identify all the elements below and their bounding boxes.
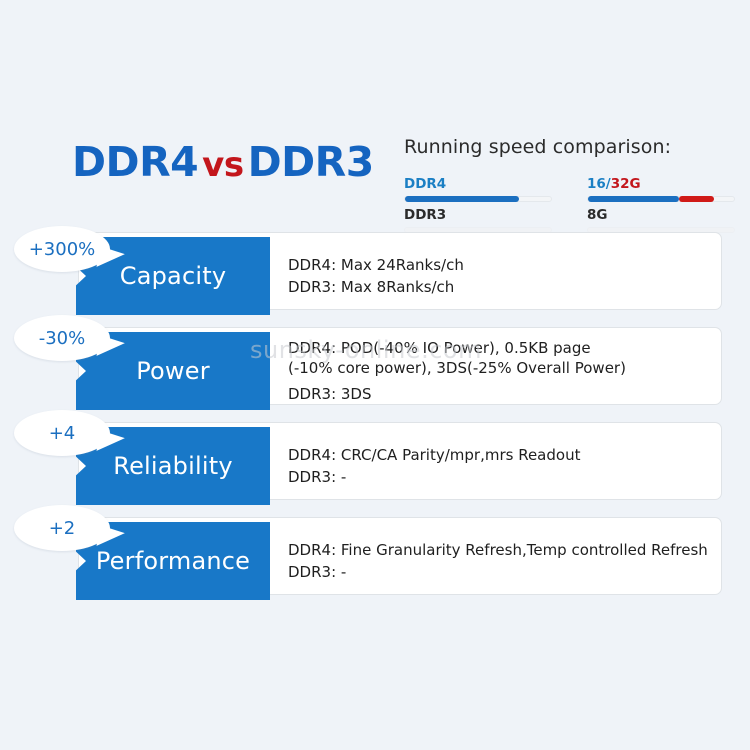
row-line-ddr3: DDR3: Max 8Ranks/ch	[288, 276, 718, 298]
speed-fill-16g	[588, 196, 679, 202]
row-content-performance: DDR4: Fine Granularity Refresh,Temp cont…	[288, 522, 718, 600]
badge-capacity: +300%	[14, 226, 110, 272]
badge-reliability: +4	[14, 410, 110, 456]
speed-bar-label-ddr3: DDR3	[404, 207, 552, 223]
speed-comparison-heading: Running speed comparison:	[404, 136, 722, 158]
row-line-ddr3: DDR3: -	[288, 466, 718, 488]
badge-label: +300%	[29, 239, 96, 260]
speed-label-32g: 32G	[611, 176, 641, 192]
row-category-label: Reliability	[113, 452, 232, 480]
row-line-ddr4: DDR4: Fine Granularity Refresh,Temp cont…	[288, 539, 718, 561]
row-line-ddr3: DDR3: 3DS	[288, 384, 718, 404]
row-category-label: Capacity	[120, 262, 226, 290]
speed-track-16-32g	[587, 196, 735, 202]
speed-fill-ddr4	[405, 196, 519, 202]
speed-track-ddr4	[404, 196, 552, 202]
speed-bar-label-8g: 8G	[587, 207, 735, 223]
page-title: DDR4vsDDR3	[72, 138, 374, 186]
badge-tail-icon	[97, 430, 126, 455]
speed-group-generation: DDR4 DDR3	[404, 176, 552, 238]
row-line-ddr4: DDR4: CRC/CA Parity/mpr,mrs Readout	[288, 444, 718, 466]
row-line-ddr4-b: (-10% core power), 3DS(-25% Overall Powe…	[288, 358, 718, 378]
badge-label: +2	[49, 518, 76, 539]
table-row: Capacity DDR4: Max 24Ranks/ch DDR3: Max …	[0, 232, 750, 322]
badge-tail-icon	[97, 525, 126, 550]
title-ddr3: DDR3	[248, 138, 374, 186]
title-ddr4: DDR4	[72, 138, 198, 186]
row-category-label: Performance	[96, 547, 250, 575]
badge-label: -30%	[39, 328, 86, 349]
speed-label-16: 16/	[587, 176, 611, 192]
title-vs: vs	[198, 145, 247, 185]
row-content-capacity: DDR4: Max 24Ranks/ch DDR3: Max 8Ranks/ch	[288, 237, 718, 315]
speed-fill-32g	[679, 196, 714, 202]
row-line-ddr4: DDR4: Max 24Ranks/ch	[288, 254, 718, 276]
speed-comparison-section: Running speed comparison:	[404, 136, 722, 158]
row-content-power: DDR4: POD(-40% IO Power), 0.5KB page (-1…	[288, 332, 718, 410]
row-content-reliability: DDR4: CRC/CA Parity/mpr,mrs Readout DDR3…	[288, 427, 718, 505]
row-line-ddr3: DDR3: -	[288, 561, 718, 583]
row-line-ddr4-a: DDR4: POD(-40% IO Power), 0.5KB page	[288, 338, 718, 358]
badge-tail-icon	[97, 335, 126, 360]
speed-bar-label-16-32g: 16/32G	[587, 176, 735, 192]
comparison-rows: Capacity DDR4: Max 24Ranks/ch DDR3: Max …	[0, 232, 750, 612]
badge-tail-icon	[97, 246, 126, 271]
row-category-label: Power	[136, 357, 210, 385]
badge-power: -30%	[14, 315, 110, 361]
speed-group-capacity: 16/32G 8G	[587, 176, 735, 238]
infographic-canvas: DDR4vsDDR3 Running speed comparison: DDR…	[0, 0, 750, 750]
badge-performance: +2	[14, 505, 110, 551]
badge-label: +4	[49, 423, 76, 444]
speed-bar-label-ddr4: DDR4	[404, 176, 552, 192]
